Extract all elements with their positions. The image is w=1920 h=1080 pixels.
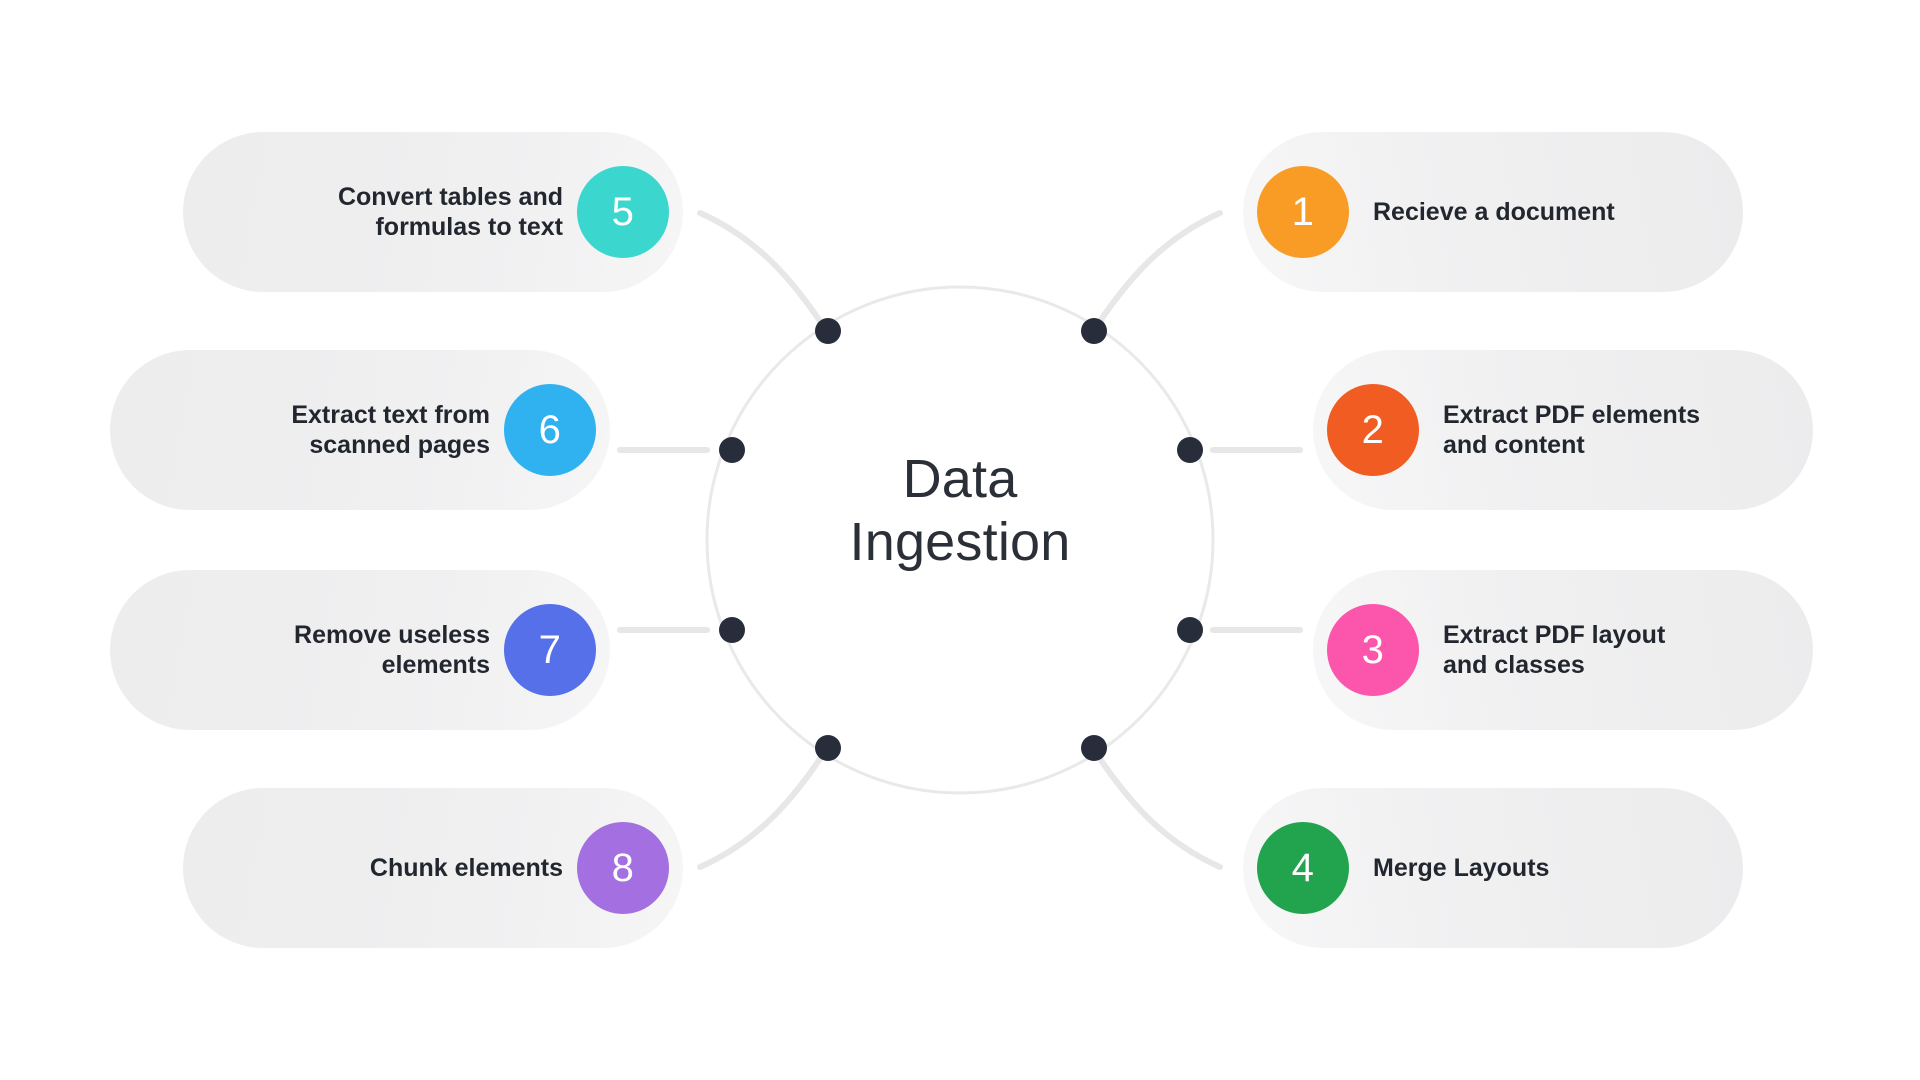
step-badge-3: 3 — [1327, 604, 1419, 696]
step-label-3: Extract PDF layout and classes — [1443, 620, 1783, 680]
step-number-8: 8 — [612, 848, 635, 888]
step-card-3[interactable]: 3 Extract PDF layout and classes — [1313, 570, 1813, 730]
node-dot-lower-left — [719, 617, 745, 643]
step-number-3: 3 — [1362, 630, 1385, 670]
step-card-6[interactable]: Extract text from scanned pages 6 — [110, 350, 610, 510]
step-card-4[interactable]: 4 Merge Layouts — [1243, 788, 1743, 948]
step-number-7: 7 — [539, 630, 562, 670]
step-badge-7: 7 — [504, 604, 596, 696]
step-badge-5: 5 — [577, 166, 669, 258]
step-number-5: 5 — [612, 192, 635, 232]
step-badge-6: 6 — [504, 384, 596, 476]
step-badge-2: 2 — [1327, 384, 1419, 476]
step-label-1: Recieve a document — [1373, 197, 1713, 227]
node-dot-bottom-right — [1081, 735, 1107, 761]
curve-to-step-5 — [700, 213, 827, 332]
step-number-6: 6 — [539, 410, 562, 450]
step-badge-8: 8 — [577, 822, 669, 914]
step-card-7[interactable]: Remove useless elements 7 — [110, 570, 610, 730]
step-label-6: Extract text from scanned pages — [190, 400, 490, 460]
step-badge-4: 4 — [1257, 822, 1349, 914]
node-dot-lower-right — [1177, 617, 1203, 643]
node-dot-top-right — [1081, 318, 1107, 344]
node-dot-top-left — [815, 318, 841, 344]
step-number-1: 1 — [1292, 192, 1315, 232]
step-number-4: 4 — [1292, 848, 1315, 888]
step-card-8[interactable]: Chunk elements 8 — [183, 788, 683, 948]
step-label-8: Chunk elements — [263, 853, 563, 883]
curve-to-step-4 — [1093, 748, 1220, 867]
step-card-5[interactable]: Convert tables and formulas to text 5 — [183, 132, 683, 292]
step-card-2[interactable]: 2 Extract PDF elements and content — [1313, 350, 1813, 510]
step-number-2: 2 — [1362, 410, 1385, 450]
diagram-canvas: Data Ingestion Convert tables and formul… — [0, 0, 1920, 1080]
step-label-5: Convert tables and formulas to text — [263, 182, 563, 242]
step-label-7: Remove useless elements — [190, 620, 490, 680]
center-title: Data Ingestion — [710, 448, 1210, 573]
step-badge-1: 1 — [1257, 166, 1349, 258]
node-dot-bottom-left — [815, 735, 841, 761]
step-card-1[interactable]: 1 Recieve a document — [1243, 132, 1743, 292]
curve-to-step-1 — [1093, 213, 1220, 332]
step-label-4: Merge Layouts — [1373, 853, 1713, 883]
step-label-2: Extract PDF elements and content — [1443, 400, 1783, 460]
curve-to-step-8 — [700, 748, 827, 867]
